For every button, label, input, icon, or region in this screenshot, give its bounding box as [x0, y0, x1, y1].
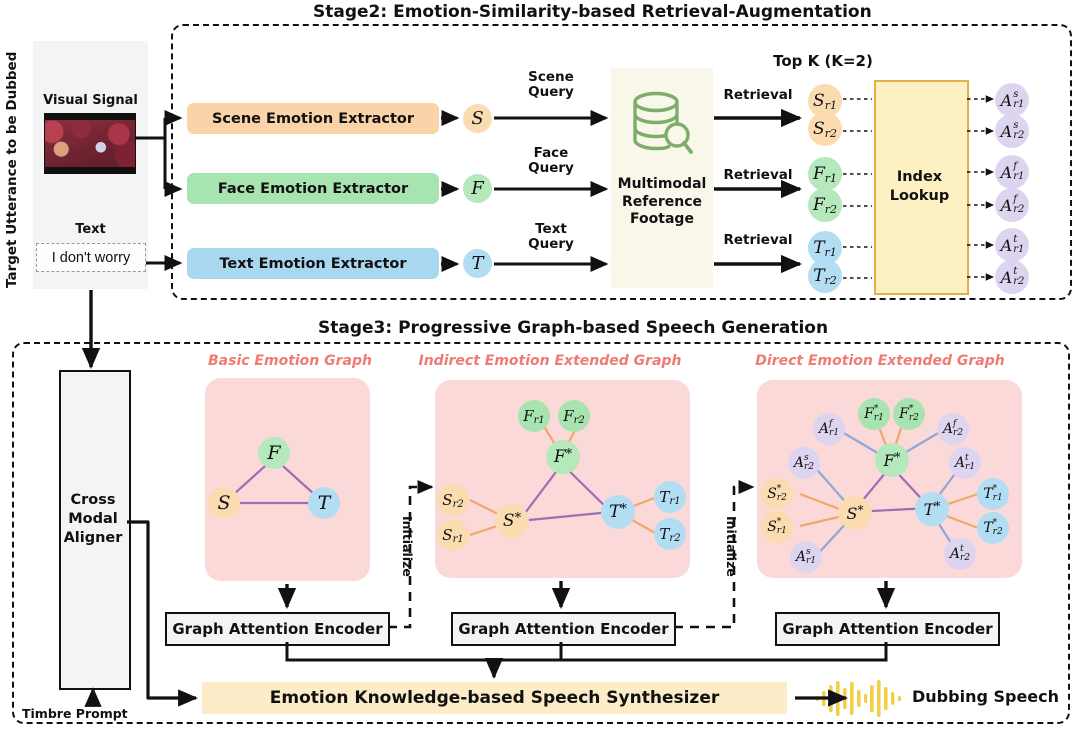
node-base: A [1001, 196, 1013, 215]
timbre-prompt-label: Timbre Prompt [22, 706, 128, 721]
g3-node-At-r1: Atr1 [949, 447, 981, 479]
stage3-title: Stage3: Progressive Graph-based Speech G… [318, 318, 828, 338]
g3-node-Tstar-r1: T*r1 [977, 478, 1009, 510]
node-retrieved-Sr2: Sr2 [808, 112, 842, 146]
scene-query-line2: Query [516, 85, 586, 100]
g2-node-Tstar: T* [601, 495, 635, 529]
g2-node-Sr2: Sr2 [437, 484, 469, 516]
stage2-title: Stage2: Emotion-Similarity-based Retriev… [313, 2, 872, 22]
g2-node-Sstar: S* [495, 504, 529, 538]
g3-node-Fstar-r1: F*r1 [858, 398, 890, 430]
scene-query-label: Scene Query [516, 70, 586, 100]
target-utterance-label: Target Utterance to be Dubbed [4, 38, 20, 288]
g3-node-Af-r2: Afr2 [937, 413, 969, 445]
scene-query-line1: Scene [516, 70, 586, 85]
g2-node-Sr1: Sr1 [437, 519, 469, 551]
g1-node-F: F [258, 437, 290, 469]
node-audio-As-r2: Asr2 [995, 114, 1029, 148]
node-base: A [1001, 91, 1013, 110]
g3-node-At-r2: Atr2 [944, 538, 976, 570]
ref-line-2: Reference [611, 194, 713, 212]
cma-line-3: Aligner [59, 529, 127, 548]
dubbing-speech-label: Dubbing Speech [912, 688, 1059, 706]
node-sub: r1 [825, 99, 837, 112]
basic-emotion-graph-title: Basic Emotion Graph [190, 352, 390, 370]
node-retrieved-Tr2: Tr2 [808, 259, 842, 293]
node-sub: r2 [1013, 131, 1024, 141]
node-audio-As-r1: Asr1 [995, 83, 1029, 117]
node-base: A [1001, 236, 1013, 255]
face-query-label: Face Query [516, 146, 586, 176]
indirect-emotion-graph-title: Indirect Emotion Extended Graph [405, 352, 695, 370]
speech-synthesizer-bar[interactable]: Emotion Knowledge-based Speech Synthesiz… [202, 682, 787, 714]
text-query-line1: Text [516, 222, 586, 237]
node-audio-Af-r1: Afr1 [995, 155, 1029, 189]
text-input[interactable]: I don't worry [36, 243, 146, 272]
g1-node-T: T [308, 487, 340, 519]
text-query-label: Text Query [516, 222, 586, 252]
node-sub: r1 [1013, 172, 1024, 182]
g3-node-Fstar: F* [875, 443, 909, 477]
initialize-label-2: Initialize [724, 516, 739, 577]
topk-label: Top K (K=2) [758, 53, 888, 70]
graph-attention-encoder-1[interactable]: Graph Attention Encoder [165, 612, 390, 646]
node-label: F [813, 195, 825, 215]
node-sub: r2 [1013, 277, 1024, 287]
initialize-label-1: Initialize [400, 516, 415, 577]
g3-node-As-r1: Asr1 [790, 541, 822, 573]
node-sub: r1 [825, 172, 837, 185]
retrieval-label-text: Retrieval [713, 233, 803, 248]
node-face-F: F [463, 174, 492, 203]
node-sub: r1 [1013, 100, 1024, 110]
node-label: F [813, 164, 825, 184]
graph-attention-encoder-2[interactable]: Graph Attention Encoder [451, 612, 676, 646]
node-label: S [813, 91, 825, 111]
index-line-1: Index [874, 168, 965, 187]
node-audio-At-r1: Atr1 [995, 228, 1029, 262]
g3-node-Sstar-r2: S*r2 [761, 478, 793, 510]
node-base: A [1001, 122, 1013, 141]
retrieval-label-face: Retrieval [713, 168, 803, 183]
scene-emotion-extractor[interactable]: Scene Emotion Extractor [187, 103, 439, 134]
index-lookup-label: Index Lookup [874, 168, 965, 206]
cross-modal-aligner-label: Cross Modal Aligner [59, 491, 127, 548]
audio-waveform-icon [816, 679, 908, 717]
g2-node-Tr2: Tr2 [654, 518, 686, 550]
database-search-icon [628, 90, 696, 156]
node-sub: r1 [1013, 245, 1024, 255]
face-query-line2: Query [516, 161, 586, 176]
node-sub: r2 [825, 203, 837, 216]
g3-node-Tstar: T* [915, 492, 949, 526]
graph-attention-encoder-3[interactable]: Graph Attention Encoder [775, 612, 1000, 646]
text-emotion-extractor[interactable]: Text Emotion Extractor [187, 248, 439, 279]
g2-node-Fr2: Fr2 [558, 400, 590, 432]
node-base: A [1001, 268, 1013, 287]
node-retrieved-Fr2: Fr2 [808, 188, 842, 222]
g3-node-As-r2: Asr2 [788, 447, 820, 479]
g3-node-Sstar: S* [838, 496, 872, 530]
node-retrieved-Fr1: Fr1 [808, 157, 842, 191]
g2-node-Fr1: Fr1 [518, 400, 550, 432]
node-scene-S: S [463, 104, 492, 133]
g1-node-S: S [208, 487, 240, 519]
node-label: S [813, 119, 825, 139]
node-audio-Af-r2: Afr2 [995, 188, 1029, 222]
node-label: T [813, 238, 824, 258]
g2-node-Fstar: F* [546, 440, 580, 474]
node-sub: r1 [825, 246, 837, 259]
node-sub: r2 [1013, 205, 1024, 215]
g3-node-Sstar-r1: S*r1 [761, 511, 793, 543]
direct-emotion-graph-title: Direct Emotion Extended Graph [740, 352, 1020, 370]
retrieval-label-scene: Retrieval [713, 88, 803, 103]
ref-line-3: Footage [611, 211, 713, 229]
index-line-2: Lookup [874, 187, 965, 206]
g2-node-Tr1: Tr1 [654, 481, 686, 513]
node-base: A [1001, 163, 1013, 182]
face-emotion-extractor[interactable]: Face Emotion Extractor [187, 173, 439, 204]
node-sub: r2 [825, 127, 837, 140]
node-sub: r2 [825, 274, 837, 287]
cma-line-2: Modal [59, 510, 127, 529]
visual-signal-label: Visual Signal [33, 92, 148, 108]
node-audio-At-r2: Atr2 [995, 260, 1029, 294]
text-label: Text [33, 221, 148, 237]
g3-node-Fstar-r2: F*r2 [893, 398, 925, 430]
text-query-line2: Query [516, 237, 586, 252]
node-text-T: T [463, 249, 492, 278]
face-query-line1: Face [516, 146, 586, 161]
ref-line-1: Multimodal [611, 176, 713, 194]
node-label: T [813, 266, 824, 286]
g3-node-Tstar-r2: T*r2 [977, 512, 1009, 544]
multimodal-reference-footage-label: Multimodal Reference Footage [611, 176, 713, 229]
g3-node-Af-r1: Afr1 [813, 413, 845, 445]
basic-emotion-graph-panel [205, 378, 370, 581]
film-strip-icon [45, 114, 135, 173]
cma-line-1: Cross [59, 491, 127, 510]
